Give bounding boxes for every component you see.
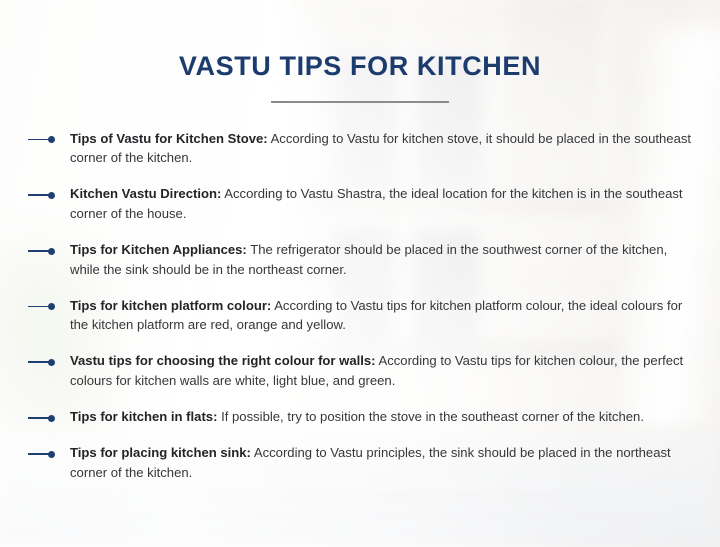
tip-label: Tips for Kitchen Appliances:	[70, 242, 247, 257]
title-divider	[271, 101, 449, 103]
arrow-dot-bullet-icon	[28, 358, 60, 366]
tip-label: Tips for kitchen in flats:	[70, 409, 217, 424]
infographic-content: VASTU TIPS FOR KITCHEN Tips of Vastu for…	[0, 0, 720, 547]
arrow-dot-bullet-icon	[28, 414, 60, 422]
tips-list: Tips of Vastu for Kitchen Stove: Accordi…	[24, 129, 696, 483]
tip-label: Vastu tips for choosing the right colour…	[70, 353, 376, 368]
list-item: Vastu tips for choosing the right colour…	[24, 351, 696, 390]
tip-label: Tips for kitchen platform colour:	[70, 298, 271, 313]
tip-label: Tips of Vastu for Kitchen Stove:	[70, 131, 268, 146]
arrow-dot-bullet-icon	[28, 191, 60, 199]
arrow-dot-bullet-icon	[28, 247, 60, 255]
tip-label: Tips for placing kitchen sink:	[70, 445, 251, 460]
page-title: VASTU TIPS FOR KITCHEN	[24, 52, 696, 82]
list-item: Tips of Vastu for Kitchen Stove: Accordi…	[24, 129, 696, 168]
arrow-dot-bullet-icon	[28, 136, 60, 144]
list-item: Tips for placing kitchen sink: According…	[24, 443, 696, 482]
arrow-dot-bullet-icon	[28, 303, 60, 311]
title-block: VASTU TIPS FOR KITCHEN	[24, 0, 696, 103]
list-item: Tips for kitchen in flats: If possible, …	[24, 407, 696, 427]
tip-body: If possible, try to position the stove i…	[217, 409, 644, 424]
list-item: Kitchen Vastu Direction: According to Va…	[24, 184, 696, 223]
arrow-dot-bullet-icon	[28, 450, 60, 458]
list-item: Tips for kitchen platform colour: Accord…	[24, 296, 696, 335]
tip-label: Kitchen Vastu Direction:	[70, 186, 221, 201]
vastu-tips-infographic: VASTU TIPS FOR KITCHEN Tips of Vastu for…	[0, 0, 720, 547]
list-item: Tips for Kitchen Appliances: The refrige…	[24, 240, 696, 279]
